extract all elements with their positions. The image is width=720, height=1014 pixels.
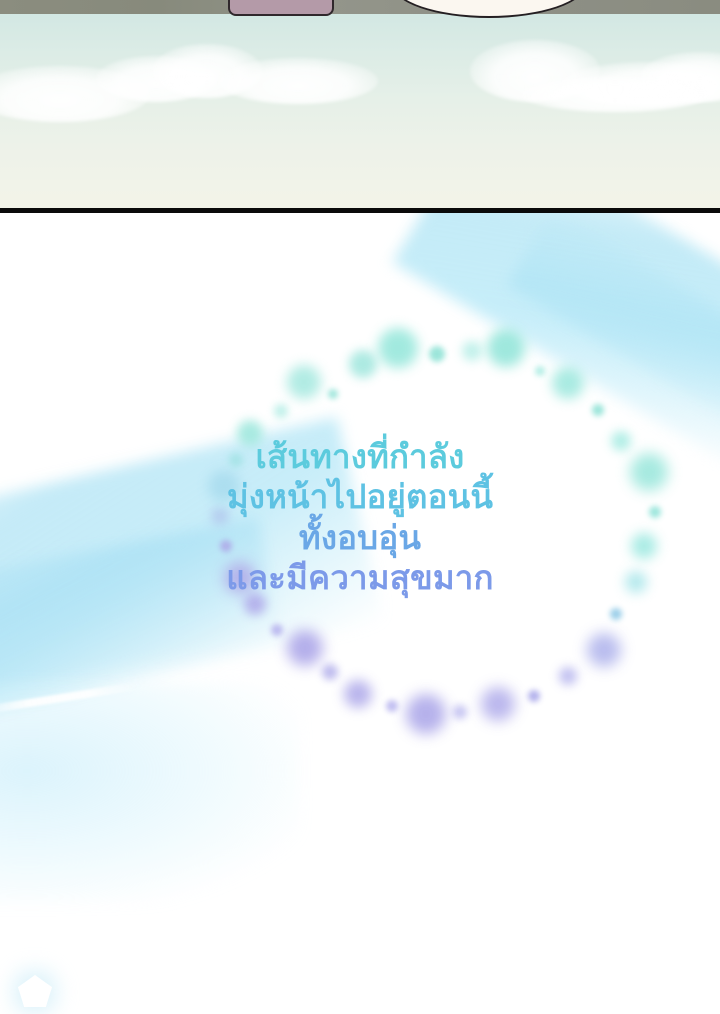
bokeh-dot [535, 366, 545, 376]
bokeh-dot [610, 608, 622, 620]
quote-line-4: และมีความสุขมาก [0, 558, 720, 598]
bokeh-dot [552, 367, 584, 399]
sky-panel [0, 0, 720, 208]
cloud-icon [520, 76, 710, 112]
pink-box-object [228, 0, 334, 16]
bokeh-dot [344, 680, 372, 708]
bokeh-dot [487, 329, 525, 367]
bokeh-dot [587, 633, 621, 667]
bokeh-dot [481, 687, 515, 721]
webtoon-page: เส้นทางที่กำลัง มุ่งหน้าไปอยู่ตอนนี้ ทั้… [0, 0, 720, 1014]
thai-quote: เส้นทางที่กำลัง มุ่งหน้าไปอยู่ตอนนี้ ทั้… [0, 437, 720, 598]
bokeh-dot [462, 341, 482, 361]
bokeh-dot [322, 664, 338, 680]
bokeh-dot [386, 700, 398, 712]
bokeh-dot [592, 404, 604, 416]
bokeh-dot [429, 346, 445, 362]
bokeh-dot [528, 690, 540, 702]
cloud-icon [218, 58, 378, 104]
bokeh-dot [559, 667, 577, 685]
quote-line-2: มุ่งหน้าไปอยู่ตอนนี้ [0, 477, 720, 517]
scene-floor-strip [0, 0, 720, 14]
bokeh-dot [287, 365, 321, 399]
bokeh-dot [453, 705, 467, 719]
quote-line-1: เส้นทางที่กำลัง [0, 437, 720, 477]
bokeh-dot [274, 404, 288, 418]
bokeh-dot [349, 350, 377, 378]
light-glow-left [0, 683, 300, 903]
bokeh-dot [378, 328, 418, 368]
bokeh-dot [406, 694, 446, 734]
bokeh-dot [287, 630, 323, 666]
bokeh-dot [328, 389, 338, 399]
quote-line-3: ทั้งอบอุ่น [0, 518, 720, 558]
bokeh-dot [271, 624, 283, 636]
light-ring-panel: เส้นทางที่กำลัง มุ่งหน้าไปอยู่ตอนนี้ ทั้… [0, 213, 720, 1014]
